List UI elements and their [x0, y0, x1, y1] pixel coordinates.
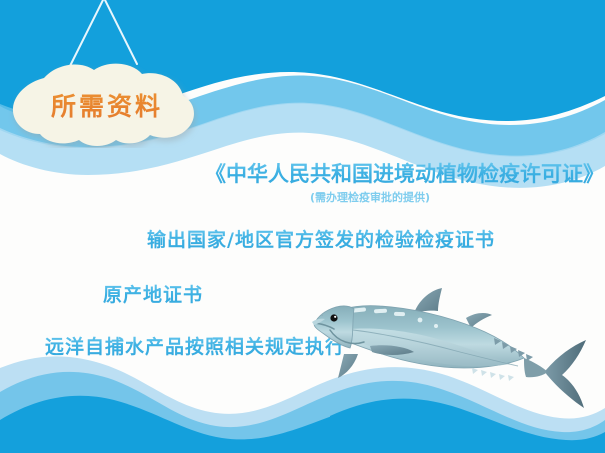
fish-tail-fin — [546, 340, 586, 408]
fish-cheek-dot — [321, 314, 323, 316]
fish-eye-glint — [334, 316, 336, 318]
fish-pelvic-fin — [338, 354, 358, 378]
fish-head — [314, 306, 354, 348]
requirement-subtitle: (需办理检疫审批的提供) — [310, 189, 430, 205]
poster-canvas: 所需资料 《中华人民共和国进境动植物检疫许可证》 (需办理检疫审批的提供) 输出… — [0, 0, 605, 453]
requirement-item-1: 输出国家/地区官方签发的检验检疫证书 — [147, 225, 495, 252]
fish-dorsal-fin — [414, 288, 442, 313]
fish-eye — [330, 314, 337, 321]
requirement-item-2: 原产地证书 — [103, 280, 203, 307]
fish-ventral-finlets — [472, 368, 514, 381]
tuna-fish-illustration — [296, 282, 596, 412]
fish-caudal-peduncle — [524, 358, 548, 377]
requirement-title: 《中华人民共和国进境动植物检疫许可证》 — [205, 158, 604, 188]
